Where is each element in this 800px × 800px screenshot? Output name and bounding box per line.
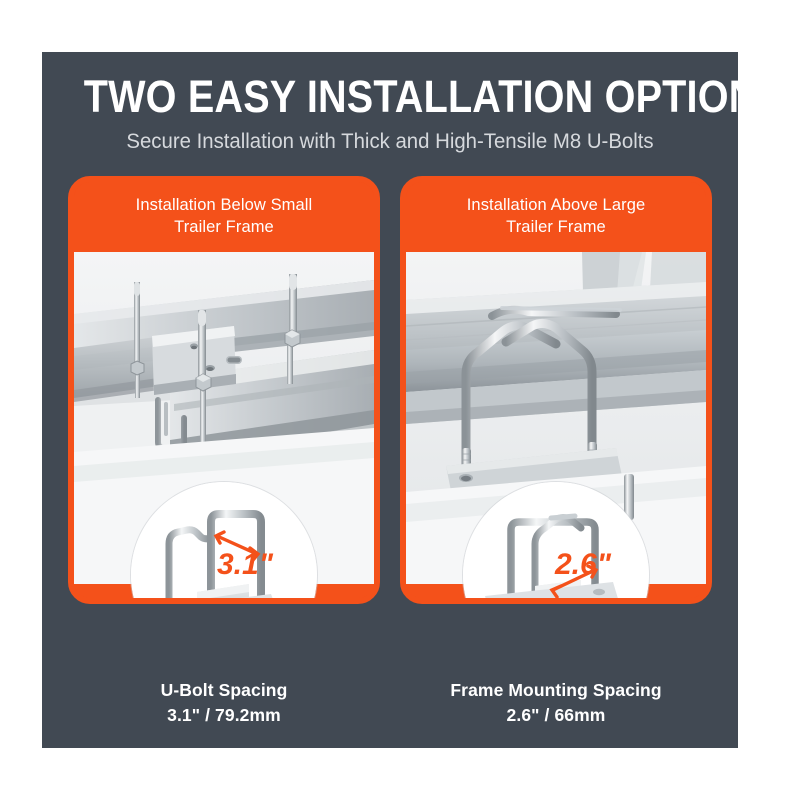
card-header-left: Installation Below Small Trailer Frame: [74, 182, 374, 252]
card-header-line1: Installation Above Large: [467, 196, 646, 214]
badge-product-frame-mount: 2.6": [463, 482, 649, 604]
caption-right-line1: Frame Mounting Spacing: [450, 680, 661, 700]
dimension-label-left: 3.1": [217, 548, 274, 581]
card-header-line2: Trailer Frame: [174, 218, 274, 236]
caption-left: U-Bolt Spacing 3.1" / 79.2mm: [68, 678, 380, 729]
page-title: TWO EASY INSTALLATION OPTIONS: [84, 74, 696, 120]
caption-left-line1: U-Bolt Spacing: [161, 680, 288, 700]
page-subtitle: Secure Installation with Thick and High-…: [52, 129, 727, 154]
caption-right-line2: 2.6" / 66mm: [400, 703, 712, 728]
badge-product-u-bolt: 3.1": [131, 482, 317, 604]
caption-right: Frame Mounting Spacing 2.6" / 66mm: [400, 678, 712, 729]
badge-frame-mounting-spacing: 2.6": [463, 482, 649, 604]
option-card-above-large-frame: Installation Above Large Trailer Frame: [400, 176, 712, 729]
card-frame-right: Installation Above Large Trailer Frame: [400, 176, 712, 604]
card-frame-left: Installation Below Small Trailer Frame: [68, 176, 380, 604]
card-header-right: Installation Above Large Trailer Frame: [406, 182, 706, 252]
option-card-below-small-frame: Installation Below Small Trailer Frame: [68, 176, 380, 729]
poster-panel: TWO EASY INSTALLATION OPTIONS Secure Ins…: [42, 52, 738, 748]
header-block: TWO EASY INSTALLATION OPTIONS Secure Ins…: [42, 52, 738, 154]
badge-u-bolt-spacing: 3.1": [131, 482, 317, 604]
card-header-line2: Trailer Frame: [506, 218, 606, 236]
card-header-line1: Installation Below Small: [136, 196, 313, 214]
dimension-label-right: 2.6": [554, 548, 612, 581]
caption-left-line2: 3.1" / 79.2mm: [68, 703, 380, 728]
options-row: Installation Below Small Trailer Frame: [68, 176, 712, 729]
